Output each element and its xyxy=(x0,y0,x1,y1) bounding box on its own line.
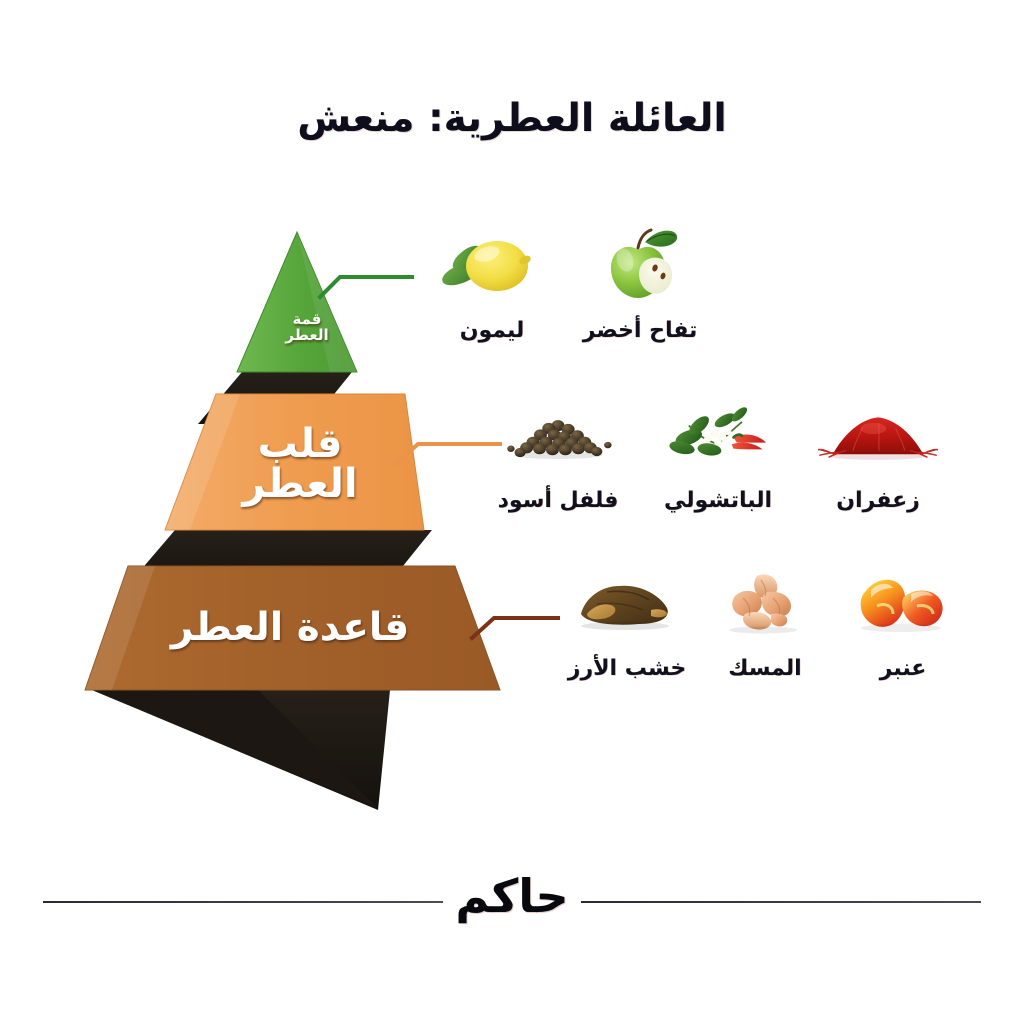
middle-notes-group: فلفل أسود xyxy=(478,392,958,513)
note-item-saffron: زعفران xyxy=(798,392,958,513)
musk-icon xyxy=(705,560,825,642)
connector-line-top xyxy=(320,277,412,297)
note-item-patchouli: الباتشولي xyxy=(638,392,798,513)
note-caption-amber: عنبر xyxy=(880,656,927,681)
footer: حاكم xyxy=(0,862,1024,942)
note-item-black-pepper: فلفل أسود xyxy=(478,392,638,513)
brand-logo: حاكم xyxy=(449,869,574,923)
note-caption-lemon: ليمون xyxy=(460,318,525,343)
note-item-green-apple: تفاح أخضر xyxy=(566,222,714,343)
saffron-icon xyxy=(818,392,938,474)
patchouli-icon xyxy=(658,392,778,474)
note-caption-patchouli: الباتشولي xyxy=(664,488,772,513)
note-caption-cedarwood: خشب الأرز xyxy=(568,656,686,681)
connector-line-base xyxy=(472,618,560,638)
cedarwood-icon xyxy=(567,560,687,642)
note-caption-green-apple: تفاح أخضر xyxy=(583,318,698,343)
note-caption-musk: المسك xyxy=(728,656,801,681)
base-notes-group: خشب الأرز xyxy=(558,560,972,681)
note-item-cedarwood: خشب الأرز xyxy=(558,560,696,681)
note-item-musk: المسك xyxy=(696,560,834,681)
amber-icon xyxy=(843,560,963,642)
lemon-icon xyxy=(432,222,552,304)
top-notes-group: ليمون xyxy=(418,222,714,343)
note-caption-saffron: زعفران xyxy=(836,488,920,513)
note-item-amber: عنبر xyxy=(834,560,972,681)
note-item-lemon: ليمون xyxy=(418,222,566,343)
footer-divider-right xyxy=(581,901,981,903)
perfume-pyramid-diagram: قمة العطر قلب العطر قاعدة العطر xyxy=(0,0,560,860)
green-apple-icon xyxy=(580,222,700,304)
black-pepper-icon xyxy=(498,392,618,474)
footer-divider-left xyxy=(43,901,443,903)
note-caption-black-pepper: فلفل أسود xyxy=(498,488,619,513)
